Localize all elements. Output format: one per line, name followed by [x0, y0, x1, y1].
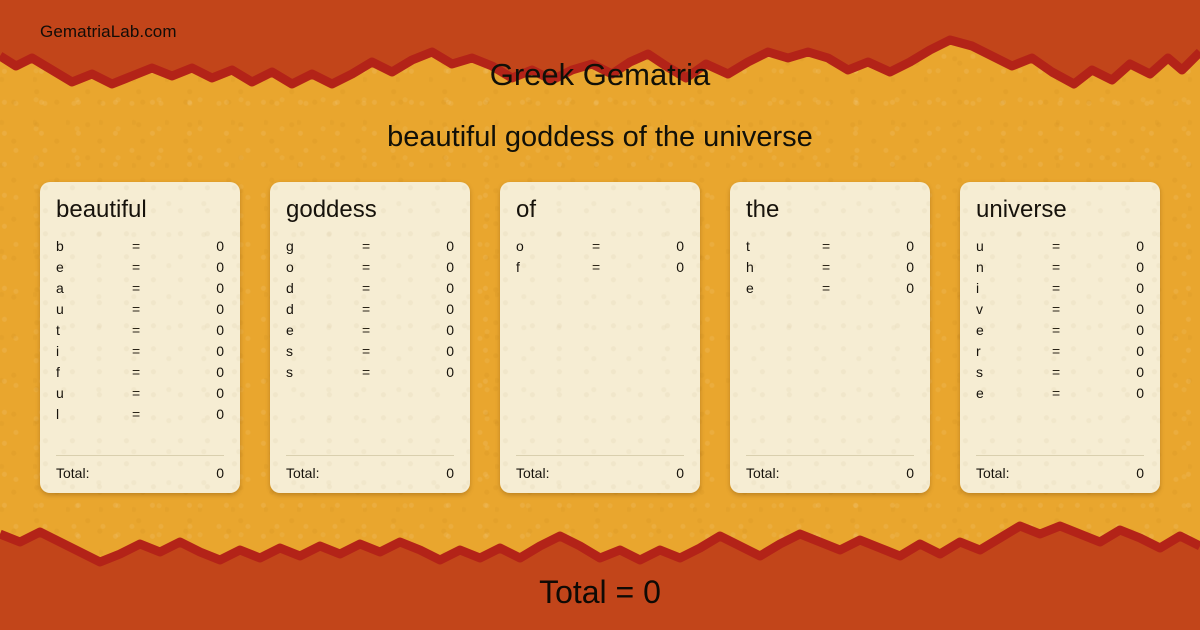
letter-row: o = 0	[516, 238, 684, 259]
letter-value: 0	[402, 280, 454, 296]
letter: t	[56, 322, 132, 338]
grand-total: Total = 0	[0, 574, 1200, 611]
equals-sign: =	[362, 238, 402, 254]
word-card-title: of	[516, 198, 684, 222]
phrase-subtitle: beautiful goddess of the universe	[0, 121, 1200, 154]
letter-value: 0	[1092, 301, 1144, 317]
letter-value: 0	[172, 364, 224, 380]
letter-row: i = 0	[56, 343, 224, 364]
letter: e	[746, 280, 822, 296]
letter-row: b = 0	[56, 238, 224, 259]
letter-value: 0	[1092, 280, 1144, 296]
letter-value: 0	[172, 343, 224, 359]
equals-sign: =	[362, 280, 402, 296]
letter-row: t = 0	[56, 322, 224, 343]
letter-row: e = 0	[286, 322, 454, 343]
letter-value: 0	[172, 259, 224, 275]
letter-value: 0	[402, 301, 454, 317]
letter-row: v = 0	[976, 301, 1144, 322]
card-total-value: 0	[906, 465, 914, 481]
letter: e	[976, 385, 1052, 401]
letter: o	[516, 238, 592, 254]
letter-value: 0	[1092, 385, 1144, 401]
card-total-label: Total:	[286, 465, 446, 481]
equals-sign: =	[822, 259, 862, 275]
letter-value: 0	[172, 406, 224, 422]
letter-value: 0	[862, 238, 914, 254]
letter: e	[286, 322, 362, 338]
word-card: of o = 0 f = 0 Total: 0	[500, 182, 700, 493]
word-card: universe u = 0 n = 0 i = 0 v	[960, 182, 1160, 493]
equals-sign: =	[362, 343, 402, 359]
letter-row: l = 0	[56, 406, 224, 427]
word-card-title: universe	[976, 198, 1144, 222]
page-title: Greek Gematria	[0, 57, 1200, 93]
letter-value: 0	[402, 238, 454, 254]
equals-sign: =	[132, 364, 172, 380]
card-total-label: Total:	[56, 465, 216, 481]
letter-row: e = 0	[976, 322, 1144, 343]
letter-row: g = 0	[286, 238, 454, 259]
letter-row: u = 0	[56, 385, 224, 406]
equals-sign: =	[132, 385, 172, 401]
letter-row: r = 0	[976, 343, 1144, 364]
word-card: goddess g = 0 o = 0 d = 0 d	[270, 182, 470, 493]
letter-row: d = 0	[286, 280, 454, 301]
equals-sign: =	[132, 343, 172, 359]
letter: b	[56, 238, 132, 254]
letter: s	[286, 343, 362, 359]
equals-sign: =	[822, 280, 862, 296]
equals-sign: =	[362, 259, 402, 275]
card-total-value: 0	[216, 465, 224, 481]
gematria-result-page: GematriaLab.com Greek Gematria beautiful…	[0, 0, 1200, 630]
letter-value: 0	[862, 259, 914, 275]
letter: e	[976, 322, 1052, 338]
letter-row: o = 0	[286, 259, 454, 280]
card-total-row: Total: 0	[56, 455, 224, 481]
equals-sign: =	[132, 259, 172, 275]
letter: s	[976, 364, 1052, 380]
equals-sign: =	[1052, 385, 1092, 401]
letter-row: e = 0	[746, 280, 914, 301]
letter-value: 0	[632, 238, 684, 254]
equals-sign: =	[1052, 259, 1092, 275]
letter-value: 0	[1092, 364, 1144, 380]
letter-row: s = 0	[976, 364, 1144, 385]
word-card-title: goddess	[286, 198, 454, 222]
card-total-row: Total: 0	[746, 455, 914, 481]
word-card-title: beautiful	[56, 198, 224, 222]
letter-value: 0	[1092, 343, 1144, 359]
letter-value: 0	[402, 364, 454, 380]
equals-sign: =	[362, 322, 402, 338]
letter-row: a = 0	[56, 280, 224, 301]
word-card: beautiful b = 0 e = 0 a = 0 u	[40, 182, 240, 493]
letter-value: 0	[172, 280, 224, 296]
equals-sign: =	[132, 322, 172, 338]
card-total-value: 0	[676, 465, 684, 481]
letter-row: s = 0	[286, 343, 454, 364]
equals-sign: =	[132, 238, 172, 254]
letter: d	[286, 301, 362, 317]
letter: s	[286, 364, 362, 380]
letter: v	[976, 301, 1052, 317]
letter-row: s = 0	[286, 364, 454, 385]
letter-value: 0	[1092, 238, 1144, 254]
letter: i	[56, 343, 132, 359]
letter-rows: o = 0 f = 0	[516, 238, 684, 451]
word-cards-row: beautiful b = 0 e = 0 a = 0 u	[40, 182, 1160, 493]
equals-sign: =	[132, 301, 172, 317]
letter-row: u = 0	[56, 301, 224, 322]
equals-sign: =	[822, 238, 862, 254]
letter-rows: u = 0 n = 0 i = 0 v = 0	[976, 238, 1144, 451]
letter: f	[516, 259, 592, 275]
letter-value: 0	[402, 322, 454, 338]
letter: t	[746, 238, 822, 254]
letter-value: 0	[172, 322, 224, 338]
letter-value: 0	[172, 385, 224, 401]
equals-sign: =	[132, 280, 172, 296]
equals-sign: =	[1052, 343, 1092, 359]
equals-sign: =	[1052, 364, 1092, 380]
letter-rows: g = 0 o = 0 d = 0 d = 0	[286, 238, 454, 451]
equals-sign: =	[1052, 280, 1092, 296]
letter: r	[976, 343, 1052, 359]
card-total-row: Total: 0	[286, 455, 454, 481]
equals-sign: =	[1052, 238, 1092, 254]
letter: e	[56, 259, 132, 275]
letter: i	[976, 280, 1052, 296]
letter-value: 0	[862, 280, 914, 296]
letter-rows: b = 0 e = 0 a = 0 u = 0	[56, 238, 224, 451]
letter-rows: t = 0 h = 0 e = 0	[746, 238, 914, 451]
letter: a	[56, 280, 132, 296]
letter: d	[286, 280, 362, 296]
letter-row: u = 0	[976, 238, 1144, 259]
site-logo[interactable]: GematriaLab.com	[40, 22, 177, 42]
card-total-row: Total: 0	[976, 455, 1144, 481]
letter-row: t = 0	[746, 238, 914, 259]
card-total-value: 0	[446, 465, 454, 481]
letter-row: i = 0	[976, 280, 1144, 301]
letter: g	[286, 238, 362, 254]
letter-row: f = 0	[516, 259, 684, 280]
card-total-value: 0	[1136, 465, 1144, 481]
letter: h	[746, 259, 822, 275]
equals-sign: =	[1052, 301, 1092, 317]
letter-value: 0	[402, 343, 454, 359]
card-total-row: Total: 0	[516, 455, 684, 481]
letter-row: e = 0	[56, 259, 224, 280]
word-card-title: the	[746, 198, 914, 222]
letter-row: n = 0	[976, 259, 1144, 280]
letter: u	[976, 238, 1052, 254]
letter-row: h = 0	[746, 259, 914, 280]
equals-sign: =	[132, 406, 172, 422]
letter-row: e = 0	[976, 385, 1144, 406]
letter-value: 0	[632, 259, 684, 275]
letter-value: 0	[402, 259, 454, 275]
equals-sign: =	[592, 238, 632, 254]
letter-row: d = 0	[286, 301, 454, 322]
letter: u	[56, 301, 132, 317]
card-total-label: Total:	[746, 465, 906, 481]
card-total-label: Total:	[976, 465, 1136, 481]
equals-sign: =	[592, 259, 632, 275]
letter-value: 0	[1092, 259, 1144, 275]
equals-sign: =	[1052, 322, 1092, 338]
letter-value: 0	[172, 301, 224, 317]
letter-value: 0	[1092, 322, 1144, 338]
letter: u	[56, 385, 132, 401]
letter-row: f = 0	[56, 364, 224, 385]
word-card: the t = 0 h = 0 e = 0 Total	[730, 182, 930, 493]
equals-sign: =	[362, 301, 402, 317]
equals-sign: =	[362, 364, 402, 380]
letter: o	[286, 259, 362, 275]
letter: l	[56, 406, 132, 422]
letter: f	[56, 364, 132, 380]
letter-value: 0	[172, 238, 224, 254]
letter: n	[976, 259, 1052, 275]
card-total-label: Total:	[516, 465, 676, 481]
